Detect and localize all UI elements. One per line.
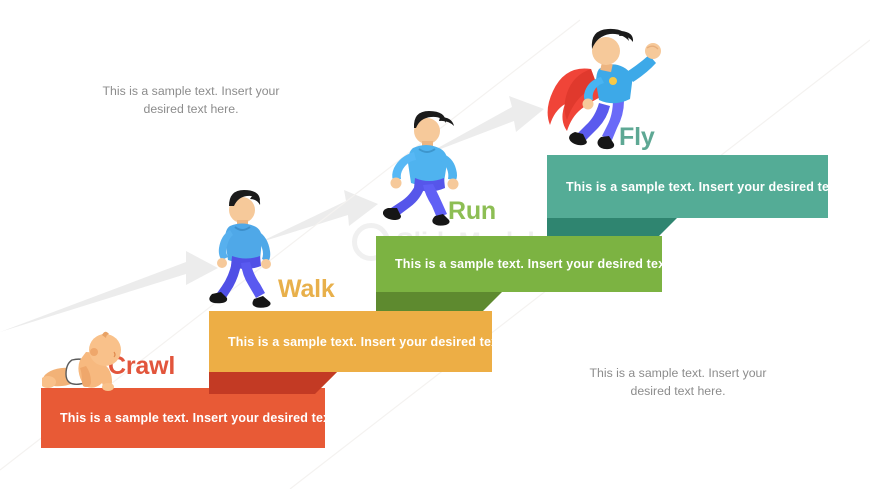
step-walk-body-text: This is a sample text. Insert your desir… bbox=[228, 335, 537, 349]
arrow-crawl-to-walk bbox=[0, 251, 218, 332]
note-bottom-right: This is a sample text. Insert your desir… bbox=[572, 364, 784, 401]
crawling-baby-icon bbox=[42, 330, 124, 392]
step-crawl-banner[interactable]: This is a sample text. Insert your desir… bbox=[41, 388, 325, 448]
walking-person-icon bbox=[208, 186, 288, 310]
running-person-icon bbox=[383, 108, 469, 230]
step-run-body-text: This is a sample text. Insert your desir… bbox=[395, 257, 704, 271]
step-crawl-body-text: This is a sample text. Insert your desir… bbox=[60, 411, 369, 425]
note-top-left: This is a sample text. Insert your desir… bbox=[85, 82, 297, 119]
flying-superhero-icon bbox=[543, 25, 663, 157]
step-run-banner[interactable]: This is a sample text. Insert your desir… bbox=[376, 236, 662, 292]
step-walk-banner[interactable]: This is a sample text. Insert your desir… bbox=[209, 311, 492, 372]
step-fly-body-text: This is a sample text. Insert your desir… bbox=[566, 180, 870, 194]
slide-canvas: SlideModel.com This is a sample text. In… bbox=[0, 0, 870, 489]
step-fly-banner[interactable]: This is a sample text. Insert your desir… bbox=[547, 155, 828, 218]
